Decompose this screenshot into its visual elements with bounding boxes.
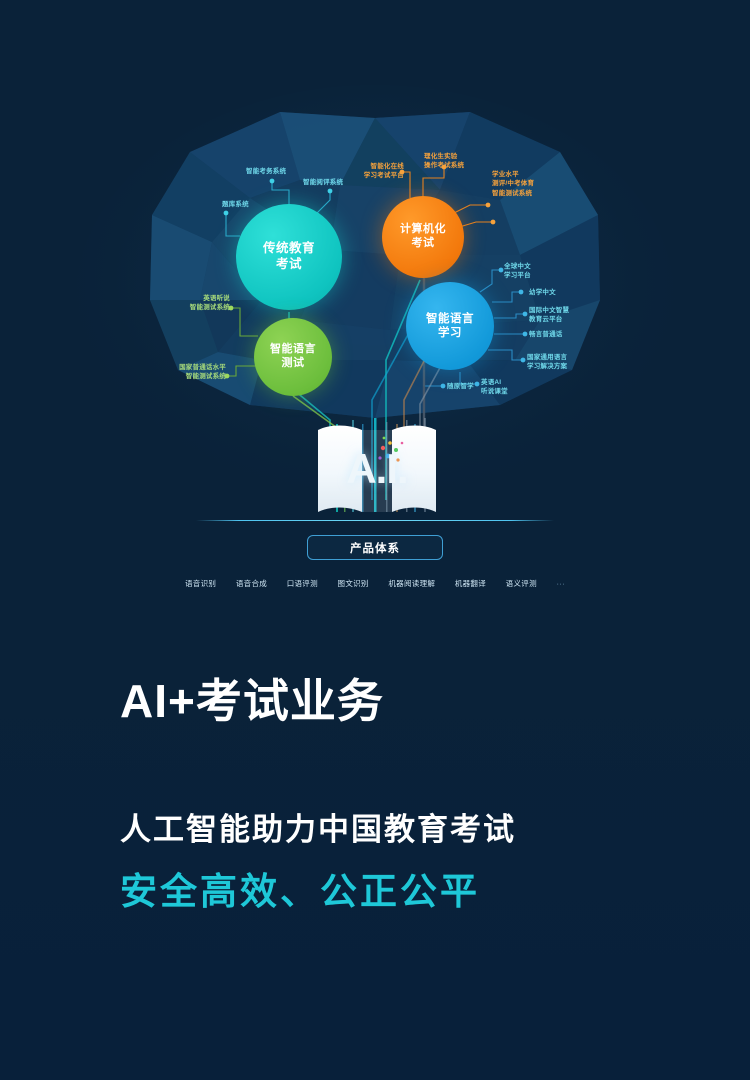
leaf-line: 智能化在线 — [352, 162, 404, 171]
leaf-line: 国际中文智慧 — [529, 306, 569, 315]
leaf-line: 英语AI — [481, 378, 508, 387]
product-system-chip[interactable]: 产品体系 — [307, 535, 443, 560]
leaf-line: 学业水平 — [492, 170, 534, 179]
capability-item[interactable]: 语义评测 — [506, 578, 537, 589]
leaf-line: 全球中文 — [504, 262, 531, 271]
leaf-label-question-bank: 题库系统 — [222, 200, 249, 209]
horizontal-divider — [196, 520, 554, 521]
leaf-label-global-chinese-platform: 全球中文 学习平台 — [504, 262, 531, 281]
capability-item[interactable]: 机器阅读理解 — [388, 578, 435, 589]
leaf-line: 听说课堂 — [481, 387, 508, 396]
leaf-line: 智能测试系统 — [178, 303, 230, 312]
page-title: AI+考试业务 — [120, 676, 680, 727]
page-root: 传统教育 考试 计算机化 考试 智能语言 学习 智能语言 测试 智能考务系统 智… — [0, 0, 750, 1080]
bubble-smart-language-testing[interactable]: 智能语言 测试 — [254, 318, 332, 396]
leaf-label-online-learning-exam-platform: 智能化在线 学习考试平台 — [352, 162, 404, 181]
leaf-line: 学习考试平台 — [352, 171, 404, 180]
leaf-line: 测评/中考体育 — [492, 179, 534, 188]
bubble-computerized-exam[interactable]: 计算机化 考试 — [382, 196, 464, 278]
bubble-line2: 学习 — [438, 326, 462, 340]
bubble-line2: 测试 — [282, 357, 305, 371]
leaf-line: 英语听说 — [178, 294, 230, 303]
leaf-label-lab-operation-exam-system: 理化生实验 操作考试系统 — [424, 152, 464, 171]
leaf-label-national-mandarin-test-system: 国家普通话水平 智能测试系统 — [168, 363, 226, 382]
brain-infographic: 传统教育 考试 计算机化 考试 智能语言 学习 智能语言 测试 智能考务系统 智… — [0, 0, 750, 640]
leaf-line: 学习平台 — [504, 271, 531, 280]
capability-list: 语音识别 语音合成 口语评测 图文识别 机器阅读理解 机器翻译 语义评测 ··· — [185, 578, 565, 589]
leaf-label-english-listening-speaking-test: 英语听说 智能测试系统 — [178, 294, 230, 313]
leaf-label-suiyuan-smart-learning: 随原智学 — [447, 382, 474, 391]
capability-item[interactable]: 图文识别 — [338, 578, 369, 589]
leaf-line: 智能测试系统 — [168, 372, 226, 381]
capability-item[interactable]: 口语评测 — [287, 578, 318, 589]
leaf-line: 畅言普通话 — [529, 330, 563, 339]
leaf-label-academic-level-pe-test-system: 学业水平 测评/中考体育 智能测试系统 — [492, 170, 534, 198]
capability-more-ellipsis: ··· — [557, 579, 565, 588]
leaf-line: 题库系统 — [222, 200, 249, 209]
leaf-label-changyan-mandarin: 畅言普通话 — [529, 330, 563, 339]
leaf-line: 智能考务系统 — [246, 167, 286, 176]
leaf-line: 操作考试系统 — [424, 161, 464, 170]
bubble-line2: 考试 — [276, 257, 302, 273]
leaf-label-national-language-solution: 国家通用语言 学习解决方案 — [527, 353, 567, 372]
bubble-line1: 智能语言 — [426, 312, 474, 326]
bubble-traditional-exam[interactable]: 传统教育 考试 — [236, 204, 342, 310]
leaf-label-kids-chinese: 幼学中文 — [529, 288, 556, 297]
bubble-line1: 智能语言 — [270, 343, 316, 357]
bubble-smart-language-learning[interactable]: 智能语言 学习 — [406, 282, 494, 370]
bubble-line2: 考试 — [412, 237, 435, 251]
bubble-line1: 计算机化 — [400, 223, 446, 237]
leaf-line: 智能阅评系统 — [303, 178, 343, 187]
capability-item[interactable]: 机器翻译 — [455, 578, 486, 589]
leaf-line: 国家通用语言 — [527, 353, 567, 362]
capability-item[interactable]: 语音识别 — [185, 578, 216, 589]
leaf-label-smart-grading: 智能阅评系统 — [303, 178, 343, 187]
capability-item[interactable]: 语音合成 — [236, 578, 267, 589]
leaf-line: 教育云平台 — [529, 315, 569, 324]
ai-logo-text: A.I. — [318, 445, 436, 493]
leaf-line: 学习解决方案 — [527, 362, 567, 371]
leaf-line: 理化生实验 — [424, 152, 464, 161]
leaf-line: 国家普通话水平 — [168, 363, 226, 372]
leaf-line: 随原智学 — [447, 382, 474, 391]
leaf-label-smart-exam-admin: 智能考务系统 — [246, 167, 286, 176]
headline-tagline: 安全高效、公正公平 — [120, 870, 680, 914]
leaf-line: 幼学中文 — [529, 288, 556, 297]
headline-block: AI+考试业务 人工智能助力中国教育考试 安全高效、公正公平 — [120, 676, 680, 914]
bubble-line1: 传统教育 — [263, 241, 315, 257]
leaf-line: 智能测试系统 — [492, 189, 534, 198]
leaf-label-english-ai-classroom: 英语AI 听说课堂 — [481, 378, 508, 397]
headline-subtitle: 人工智能助力中国教育考试 — [120, 811, 680, 848]
leaf-label-intl-chinese-cloud-platform: 国际中文智慧 教育云平台 — [529, 306, 569, 325]
